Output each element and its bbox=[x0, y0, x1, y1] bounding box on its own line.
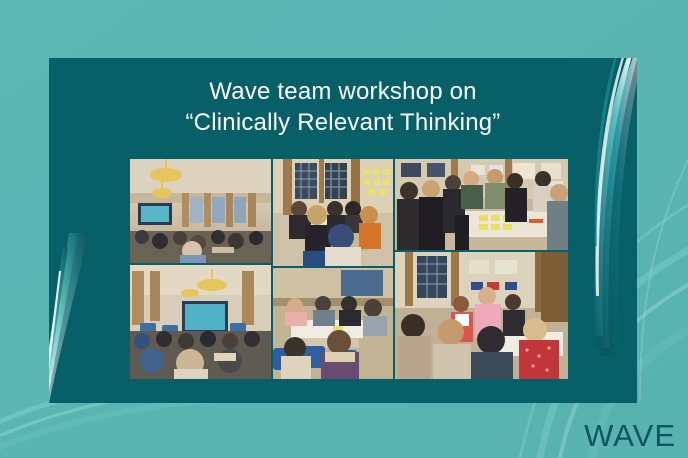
page-title: Wave team workshop on “Clinically Releva… bbox=[49, 76, 637, 138]
collage-photo bbox=[130, 265, 271, 379]
content-panel: Wave team workshop on “Clinically Releva… bbox=[49, 58, 637, 403]
collage-photo bbox=[395, 159, 568, 250]
wave-ribbon-left-icon bbox=[49, 233, 91, 403]
wave-logo: WAVE bbox=[584, 418, 676, 454]
photo-collage bbox=[130, 159, 568, 379]
collage-photo bbox=[273, 159, 393, 266]
collage-photo bbox=[395, 252, 568, 379]
collage-photo bbox=[130, 159, 271, 263]
collage-photo bbox=[273, 268, 393, 379]
collage-column-left bbox=[130, 159, 271, 379]
title-line-1: Wave team workshop on bbox=[209, 78, 476, 105]
collage-column-right bbox=[395, 159, 568, 379]
title-line-2: “Clinically Relevant Thinking” bbox=[49, 107, 637, 138]
presentation-slide: Wave team workshop on “Clinically Releva… bbox=[0, 0, 688, 458]
collage-column-middle bbox=[273, 159, 393, 379]
